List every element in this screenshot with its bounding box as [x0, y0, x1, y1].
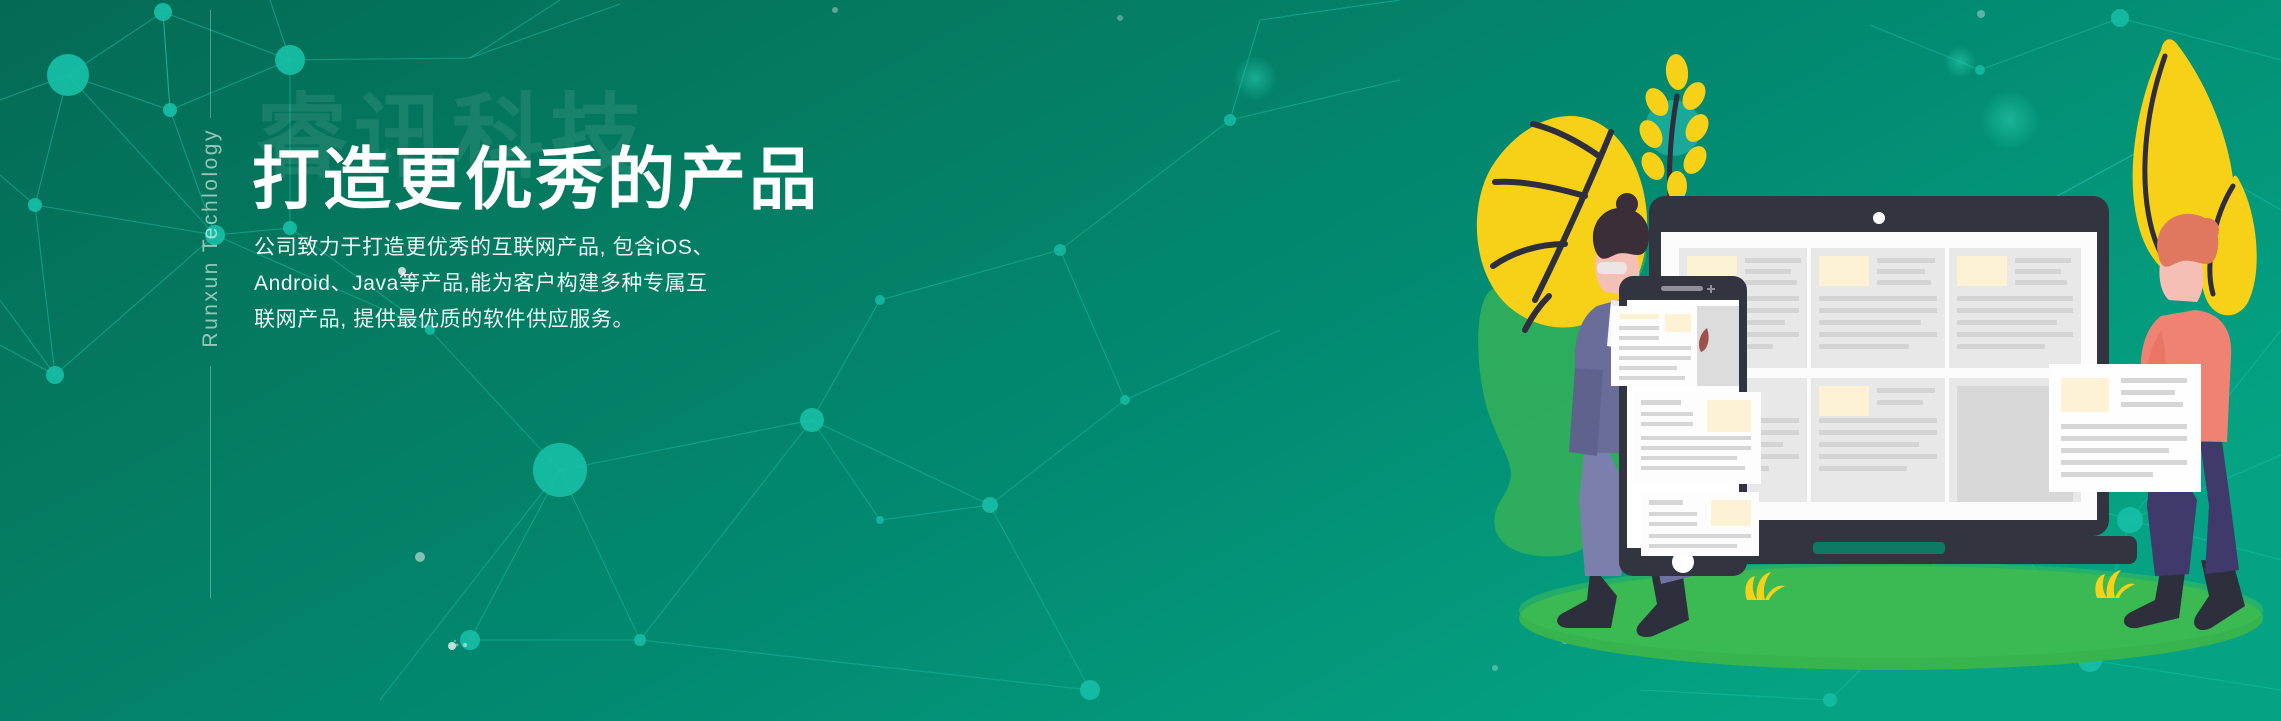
brand-rule-bottom — [210, 366, 211, 598]
description-line-3: 联网产品, 提供最优质的软件供应服务。 — [254, 302, 814, 338]
description-line-2: Android、Java等产品,能为客户构建多种专属互 — [254, 266, 814, 302]
description-line-1: 公司致力于打造更优秀的互联网产品, 包含iOS、 — [254, 230, 814, 266]
floating-document-bottom — [1641, 492, 1759, 556]
floating-document-center — [1633, 392, 1761, 484]
brand-vertical-english: Runxun Techlology — [200, 128, 221, 348]
brand-vertical-wrap: Runxun Techlology — [186, 118, 234, 598]
brand-rule-top — [210, 10, 211, 118]
hero-description: 公司致力于打造更优秀的互联网产品, 包含iOS、 Android、Java等产品… — [254, 230, 814, 338]
hero-copy-block: Runxun Techlology 睿讯科技 打造更优秀的产品 公司致力于打造更… — [0, 0, 1150, 721]
page-title: 打造更优秀的产品 — [252, 146, 820, 214]
team-devices-illustration — [1461, 0, 2281, 721]
floating-document-right — [2049, 364, 2201, 492]
floating-document-left — [1611, 306, 1739, 386]
hero-banner: Runxun Techlology 睿讯科技 打造更优秀的产品 公司致力于打造更… — [0, 0, 2281, 721]
